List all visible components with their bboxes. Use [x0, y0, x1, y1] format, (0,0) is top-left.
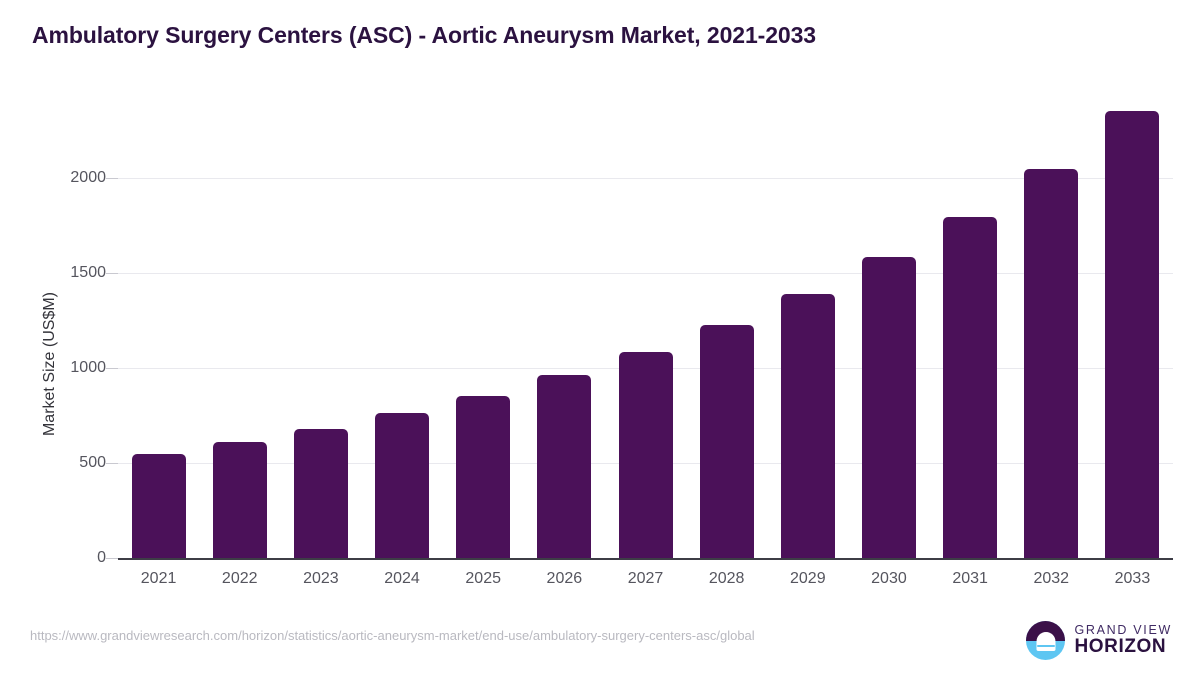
bar-2033[interactable]	[1105, 111, 1159, 558]
x-axis-tick-label: 2023	[281, 570, 361, 588]
x-axis-tick-label: 2029	[768, 570, 848, 588]
bar-2026[interactable]	[537, 375, 591, 558]
bar-2029[interactable]	[781, 294, 835, 558]
x-axis-tick-label: 2024	[362, 570, 442, 588]
bar-2028[interactable]	[700, 325, 754, 558]
chart-page: Ambulatory Surgery Centers (ASC) - Aorti…	[0, 0, 1200, 675]
x-axis-tick-label: 2031	[930, 570, 1010, 588]
logo-text-horizon: HORIZON	[1074, 637, 1172, 656]
x-axis-tick-label: 2028	[687, 570, 767, 588]
bar-2027[interactable]	[619, 352, 673, 558]
x-axis-tick-label: 2025	[443, 570, 523, 588]
bar-2024[interactable]	[375, 413, 429, 558]
logo-dome-shape	[1036, 632, 1055, 651]
x-axis-tick-label: 2026	[524, 570, 604, 588]
logo-line-lower	[1040, 651, 1051, 653]
x-axis-tick-label: 2030	[849, 570, 929, 588]
x-axis-tick-label: 2032	[1011, 570, 1091, 588]
horizon-sun-icon	[1026, 621, 1065, 660]
x-axis-tick-label: 2021	[119, 570, 199, 588]
brand-logo: GRAND VIEW HORIZON	[1026, 621, 1172, 660]
logo-wordmark: GRAND VIEW HORIZON	[1074, 624, 1172, 656]
x-axis-tick-label: 2022	[200, 570, 280, 588]
bar-2030[interactable]	[862, 257, 916, 558]
bar-2025[interactable]	[456, 396, 510, 558]
bar-2032[interactable]	[1024, 169, 1078, 559]
bar-2031[interactable]	[943, 217, 997, 558]
bar-2023[interactable]	[294, 429, 348, 558]
plot-area: Market Size (US$M) 0500100015002000 2021…	[0, 0, 1200, 675]
bar-2021[interactable]	[132, 454, 186, 558]
source-url[interactable]: https://www.grandviewresearch.com/horizo…	[30, 628, 755, 643]
bar-2022[interactable]	[213, 442, 267, 558]
x-axis-tick-label: 2033	[1092, 570, 1172, 588]
x-axis-tick-label: 2027	[606, 570, 686, 588]
